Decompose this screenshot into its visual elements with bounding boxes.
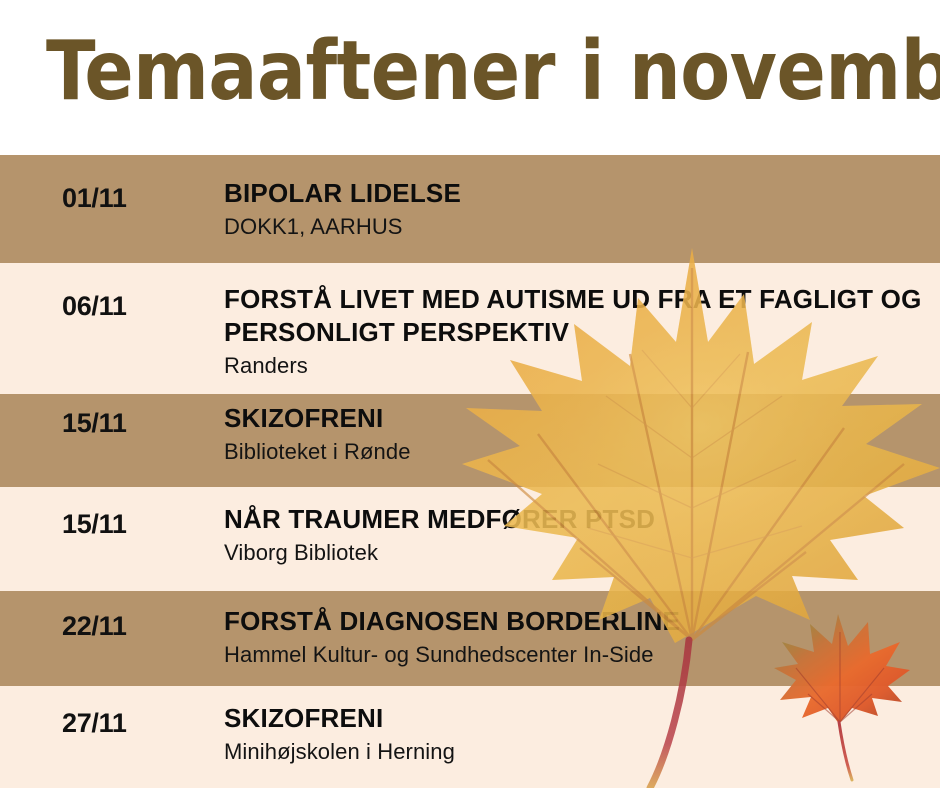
event-date: 01/11 bbox=[62, 183, 212, 214]
poster-canvas: Temaaftener i november 01/11BIPOLAR LIDE… bbox=[0, 0, 940, 788]
event-venue: Minihøjskolen i Herning bbox=[224, 737, 924, 766]
event-details: FORSTÅ DIAGNOSEN BORDERLINEHammel Kultur… bbox=[224, 605, 924, 669]
event-details: BIPOLAR LIDELSEDOKK1, AARHUS bbox=[224, 177, 924, 241]
event-date: 15/11 bbox=[62, 408, 212, 439]
event-details: SKIZOFRENIBiblioteket i Rønde bbox=[224, 402, 924, 466]
event-date: 15/11 bbox=[62, 509, 212, 540]
event-list: 01/11BIPOLAR LIDELSEDOKK1, AARHUS06/11FO… bbox=[0, 0, 940, 788]
event-title: FORSTÅ DIAGNOSEN BORDERLINE bbox=[224, 605, 924, 638]
event-details: FORSTÅ LIVET MED AUTISME UD FRA ET FAGLI… bbox=[224, 283, 924, 380]
event-date: 22/11 bbox=[62, 611, 212, 642]
event-venue: DOKK1, AARHUS bbox=[224, 212, 924, 241]
event-date: 06/11 bbox=[62, 291, 212, 322]
event-row[interactable]: 01/11BIPOLAR LIDELSEDOKK1, AARHUS bbox=[0, 155, 940, 263]
event-venue: Biblioteket i Rønde bbox=[224, 437, 924, 466]
event-title: BIPOLAR LIDELSE bbox=[224, 177, 924, 210]
event-details: SKIZOFRENIMinihøjskolen i Herning bbox=[224, 702, 924, 766]
event-row[interactable]: 15/11SKIZOFRENIBiblioteket i Rønde bbox=[0, 394, 940, 487]
event-row[interactable]: 22/11FORSTÅ DIAGNOSEN BORDERLINEHammel K… bbox=[0, 591, 940, 686]
event-venue: Viborg Bibliotek bbox=[224, 538, 924, 567]
event-venue: Hammel Kultur- og Sundhedscenter In-Side bbox=[224, 640, 924, 669]
event-title: SKIZOFRENI bbox=[224, 702, 924, 735]
event-venue: Randers bbox=[224, 351, 924, 380]
event-title: NÅR TRAUMER MEDFØRER PTSD bbox=[224, 503, 924, 536]
event-row[interactable]: 15/11NÅR TRAUMER MEDFØRER PTSDViborg Bib… bbox=[0, 487, 940, 591]
event-details: NÅR TRAUMER MEDFØRER PTSDViborg Bibliote… bbox=[224, 503, 924, 567]
event-date: 27/11 bbox=[62, 708, 212, 739]
event-title: FORSTÅ LIVET MED AUTISME UD FRA ET FAGLI… bbox=[224, 283, 924, 349]
event-row[interactable]: 06/11FORSTÅ LIVET MED AUTISME UD FRA ET … bbox=[0, 263, 940, 394]
event-title: SKIZOFRENI bbox=[224, 402, 924, 435]
event-row[interactable]: 27/11SKIZOFRENIMinihøjskolen i Herning bbox=[0, 686, 940, 788]
